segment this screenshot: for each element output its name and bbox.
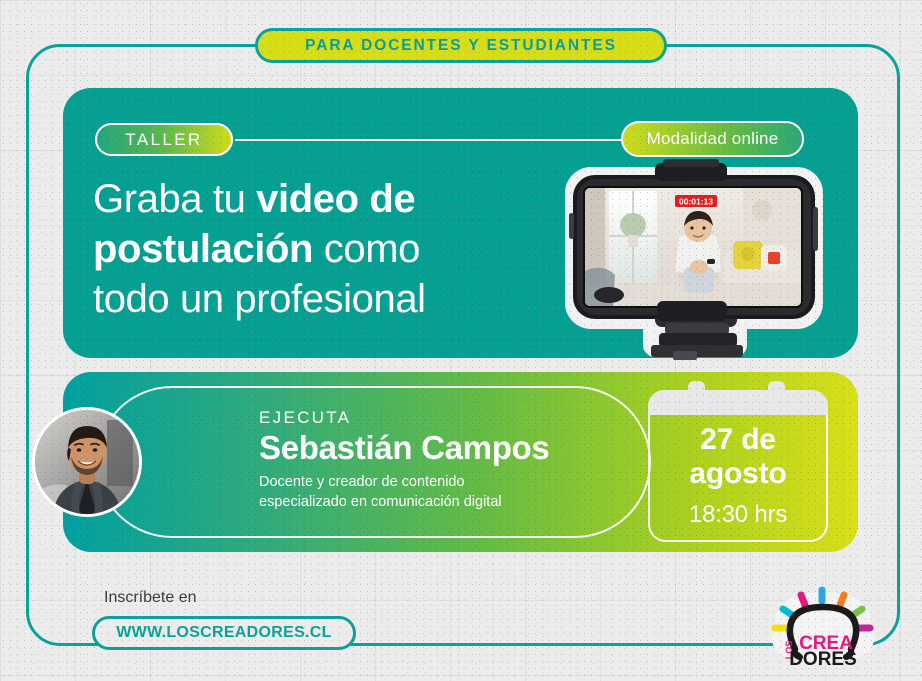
website-url-pill[interactable]: WWW.LOSCREADORES.CL (92, 616, 356, 650)
modalidad-badge-label: Modalidad online (647, 129, 779, 149)
poster-canvas: PARA DOCENTES Y ESTUDIANTES TALLER Modal… (0, 0, 922, 681)
logo-word-dores: DORES (789, 649, 857, 668)
event-time: 18:30 hrs (648, 501, 828, 529)
calendar-text: 27 de agosto 18:30 hrs (648, 423, 828, 529)
event-date-line1: 27 de (648, 423, 828, 457)
svg-text:00:01:13: 00:01:13 (679, 197, 713, 207)
modalidad-badge: Modalidad online (621, 121, 804, 157)
taller-badge-label: TALLER (125, 130, 202, 150)
recording-timer: 00:01:13 (675, 195, 717, 207)
phone-screen-content: 00:01:13 (581, 188, 801, 306)
phone-tripod-svg: 00:01:13 (547, 155, 847, 360)
headline-line1-regular: Graba tu (93, 177, 256, 221)
top-ribbon-badge: PARA DOCENTES Y ESTUDIANTES (255, 28, 667, 63)
headline-line2-bold: postulación (93, 227, 313, 271)
speaker-avatar (32, 407, 142, 517)
headline-line2-regular: como (313, 227, 420, 271)
headline-line1-bold: video de (256, 177, 415, 221)
calendar-ring-tab-left (688, 381, 705, 399)
website-url-label: WWW.LOSCREADORES.CL (116, 624, 331, 642)
event-date-line2: agosto (648, 457, 828, 491)
speaker-role: Docente y creador de contenido especiali… (259, 472, 549, 512)
taller-badge: TALLER (95, 123, 233, 156)
avatar-photo (35, 410, 139, 514)
badge-connector-line (235, 139, 687, 141)
speaker-eyebrow: EJECUTA (259, 408, 549, 428)
calendar-header-bar (648, 390, 828, 415)
cta-label: Inscríbete en (104, 589, 197, 607)
speaker-role-line2: especializado en comunicación digital (259, 494, 502, 510)
calendar-ring-tab-right (768, 381, 785, 399)
loscreadores-logo: LOS CREA DORES (762, 586, 884, 668)
top-ribbon-label: PARA DOCENTES Y ESTUDIANTES (305, 37, 617, 55)
speaker-text-block: EJECUTA Sebastián Campos Docente y cread… (259, 408, 549, 512)
speaker-name: Sebastián Campos (259, 429, 549, 467)
date-calendar: 27 de agosto 18:30 hrs (648, 390, 828, 542)
logo-svg: LOS CREA DORES (762, 586, 884, 668)
phone-tripod-illustration: 00:01:13 (547, 155, 847, 360)
headline: Graba tu video de postulación como todo … (93, 174, 523, 324)
speaker-role-line1: Docente y creador de contenido (259, 474, 465, 490)
headline-line3: todo un profesional (93, 277, 426, 321)
